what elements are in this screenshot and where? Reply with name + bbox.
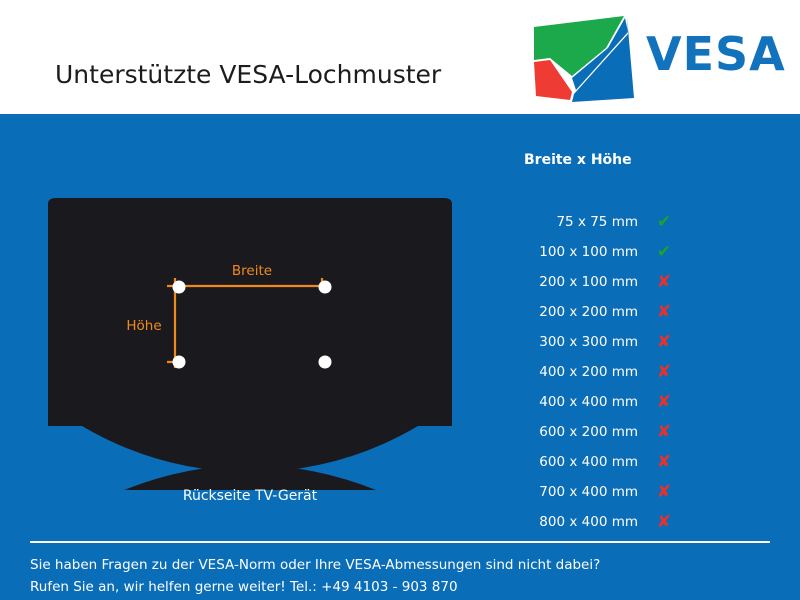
cross-icon: ✘: [652, 507, 676, 537]
cross-icon: ✘: [652, 417, 676, 447]
table-row: 100 x 100 mm✔: [490, 237, 710, 267]
vesa-size-label: 100 x 100 mm: [490, 237, 638, 267]
hoehe-label: Höhe: [126, 318, 161, 334]
tv-body-shape: [48, 198, 452, 472]
cross-icon: ✘: [652, 447, 676, 477]
breite-label: Breite: [232, 263, 272, 279]
vesa-size-label: 400 x 200 mm: [490, 357, 638, 387]
table-row: 75 x 75 mm✔: [490, 207, 710, 237]
table-row: 600 x 400 mm✘: [490, 447, 710, 477]
vesa-size-label: 400 x 400 mm: [490, 387, 638, 417]
cross-icon: ✘: [652, 387, 676, 417]
vesa-info-graphic: Unterstützte VESA-Lochmuster VESA: [0, 0, 800, 600]
footer-line-1: Sie haben Fragen zu der VESA-Norm oder I…: [30, 554, 775, 576]
vesa-logo: VESA: [528, 14, 790, 100]
vesa-size-label: 600 x 200 mm: [490, 417, 638, 447]
tv-back-diagram: Breite Höhe Rückseite TV-Gerät: [40, 190, 460, 530]
vesa-size-label: 200 x 200 mm: [490, 297, 638, 327]
vesa-size-label: 800 x 400 mm: [490, 507, 638, 537]
table-row: 400 x 400 mm✘: [490, 387, 710, 417]
cross-icon: ✘: [652, 297, 676, 327]
check-icon: ✔: [652, 237, 676, 267]
table-body: 75 x 75 mm✔100 x 100 mm✔200 x 100 mm✘200…: [490, 207, 710, 537]
mounting-hole-bottom-left: [173, 356, 186, 369]
vesa-checkmark-logo-icon: [528, 14, 640, 104]
cross-icon: ✘: [652, 357, 676, 387]
vesa-wordmark: VESA: [646, 28, 786, 80]
vesa-size-label: 700 x 400 mm: [490, 477, 638, 507]
footer-contact-text: Sie haben Fragen zu der VESA-Norm oder I…: [30, 554, 775, 598]
vesa-size-label: 600 x 400 mm: [490, 447, 638, 477]
table-row: 600 x 200 mm✘: [490, 417, 710, 447]
footer-line-2: Rufen Sie an, wir helfen gerne weiter! T…: [30, 576, 775, 598]
content-panel: Breite Höhe Rückseite TV-Gerät Breite x …: [0, 114, 800, 600]
vesa-size-label: 200 x 100 mm: [490, 267, 638, 297]
table-row: 200 x 100 mm✘: [490, 267, 710, 297]
mounting-hole-top-right: [319, 281, 332, 294]
table-row: 700 x 400 mm✘: [490, 477, 710, 507]
footer-divider: [30, 541, 770, 543]
page-title: Unterstützte VESA-Lochmuster: [55, 60, 441, 89]
table-row: 400 x 200 mm✘: [490, 357, 710, 387]
vesa-size-label: 75 x 75 mm: [490, 207, 638, 237]
check-icon: ✔: [652, 207, 676, 237]
cross-icon: ✘: [652, 327, 676, 357]
tv-diagram-caption: Rückseite TV-Gerät: [40, 488, 460, 504]
table-row: 200 x 200 mm✘: [490, 297, 710, 327]
cross-icon: ✘: [652, 267, 676, 297]
mounting-hole-top-left: [173, 281, 186, 294]
header-bar: Unterstützte VESA-Lochmuster VESA: [0, 0, 800, 114]
table-column-header: Breite x Höhe: [524, 152, 632, 168]
vesa-size-label: 300 x 300 mm: [490, 327, 638, 357]
cross-icon: ✘: [652, 477, 676, 507]
mounting-hole-bottom-right: [319, 356, 332, 369]
table-row: 300 x 300 mm✘: [490, 327, 710, 357]
table-row: 800 x 400 mm✘: [490, 507, 710, 537]
tv-stand-base: [124, 465, 376, 490]
